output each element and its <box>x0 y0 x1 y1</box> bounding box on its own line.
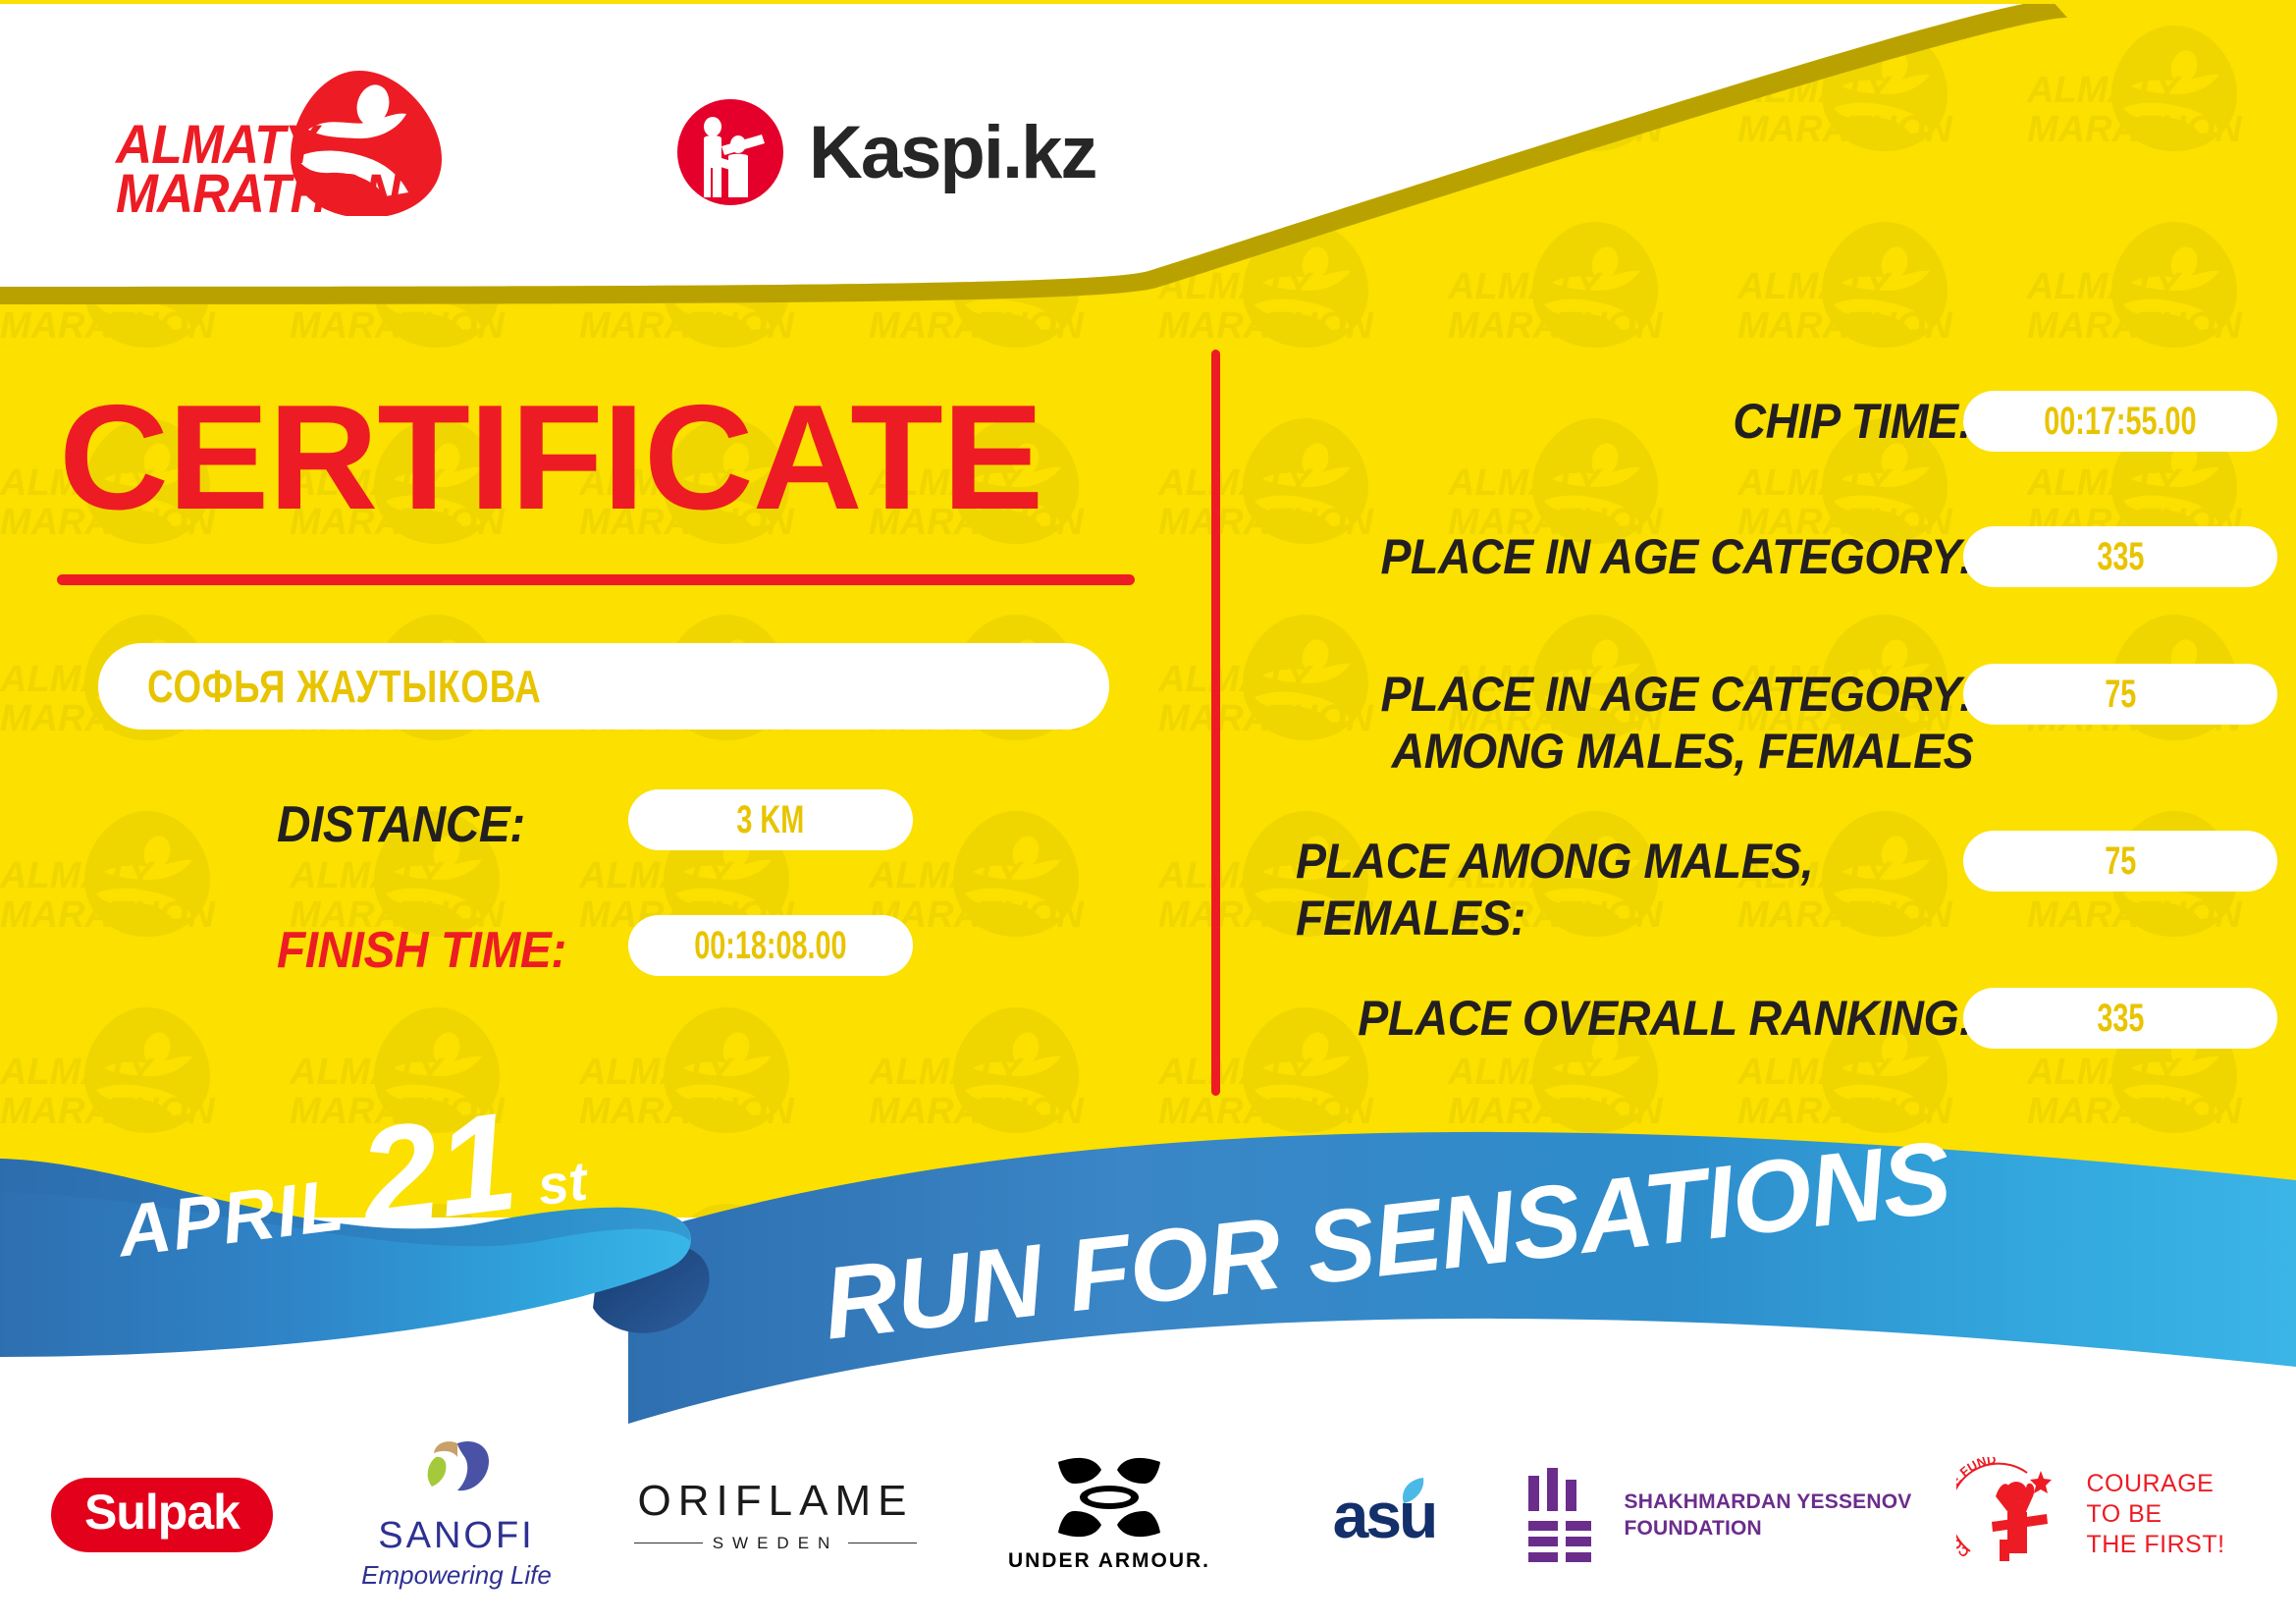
oriflame-rule-right <box>848 1543 917 1543</box>
kaspi-family-circle-icon <box>677 99 783 205</box>
place-among-gender-label: PLACE AMONG MALES, <box>1296 833 1813 890</box>
distance-field: 3 KM <box>628 789 913 850</box>
title-underline-rule <box>57 574 1135 585</box>
place-age-category-gender-label-line2: AMONG MALES, FEMALES <box>1391 723 1973 780</box>
distance-value: 3 KM <box>737 798 805 842</box>
place-overall-value: 335 <box>2097 997 2144 1041</box>
sanofi-bird-icon <box>414 1439 499 1510</box>
finish-time-label: FINISH TIME: <box>277 921 566 980</box>
place-among-gender-label-line2: FEMALES: <box>1296 890 1525 947</box>
place-age-category-gender-field: 75 <box>1963 664 2277 725</box>
vertical-divider <box>1211 350 1220 1096</box>
participant-name-field: СОФЬЯ ЖАУТЫКОВА <box>98 643 1109 730</box>
sponsor-under-armour: UNDER ARMOUR. <box>962 1436 1256 1594</box>
oriflame-tagline: SWEDEN <box>713 1534 839 1553</box>
asu-leaf-icon <box>1398 1476 1427 1509</box>
place-overall-field: 335 <box>1963 988 2277 1049</box>
chip-time-field: 00:17:55.00 <box>1963 391 2277 452</box>
sanofi-tagline: Empowering Life <box>361 1560 552 1591</box>
courage-runner-icon: CORPORATE FUND <box>1956 1457 2074 1573</box>
place-overall-label: PLACE OVERALL RANKING: <box>1358 990 1973 1047</box>
finish-time-field: 00:18:08.00 <box>628 915 913 976</box>
yessenov-tagline: FOUNDATION <box>1625 1515 1912 1542</box>
almaty-logo-line2: MARATHON <box>116 169 400 218</box>
place-age-category-field: 335 <box>1963 526 2277 587</box>
place-age-category-value: 335 <box>2097 535 2144 579</box>
sanofi-wordmark: SANOFI <box>361 1515 552 1557</box>
sponsor-oriflame: ORIFLAME SWEDEN <box>589 1436 962 1594</box>
place-among-gender-field: 75 <box>1963 831 2277 892</box>
courage-tagline: COURAGETO BETHE FIRST! <box>2086 1469 2224 1560</box>
kaspi-wordmark: Kaspi.kz <box>809 110 1095 195</box>
almaty-marathon-wordmark: ALMATY MARATHON <box>116 120 400 218</box>
sponsor-sanofi: SANOFI Empowering Life <box>324 1436 589 1594</box>
svg-text:CORPORATE FUND: CORPORATE FUND <box>1956 1457 1997 1560</box>
sulpak-wordmark: Sulpak <box>51 1478 273 1552</box>
sponsor-bar: Sulpak SANOFI Empowering Life ORIFLAME S… <box>0 1429 2296 1600</box>
chip-time-value: 00:17:55.00 <box>2044 400 2196 444</box>
certificate-title: CERTIFICATE <box>59 383 1042 532</box>
place-age-category-gender-label: PLACE IN AGE CATEGORY: <box>1380 666 1973 723</box>
participant-name-value: СОФЬЯ ЖАУТЫКОВА <box>147 660 542 713</box>
sponsor-sulpak: Sulpak <box>0 1436 324 1594</box>
distance-label: DISTANCE: <box>277 795 525 854</box>
place-age-category-label: PLACE IN AGE CATEGORY: <box>1380 528 1973 585</box>
finish-time-value: 00:18:08.00 <box>694 924 846 968</box>
yessenov-wordmark: SHAKHMARDAN YESSENOV <box>1625 1489 1912 1515</box>
place-among-gender-value: 75 <box>2105 839 2136 884</box>
chip-time-label: CHIP TIME: <box>1734 393 1973 450</box>
sponsor-asu: asu <box>1256 1436 1512 1594</box>
certificate-canvas: ALMATY MARATHON ALMATY MARATHON <box>0 0 2296 1624</box>
almaty-marathon-logo: ALMATY MARATHON <box>116 69 450 216</box>
under-armour-icon <box>1041 1456 1178 1541</box>
sponsor-shakhmardan-yessenov-foundation: SHAKHMARDAN YESSENOV FOUNDATION <box>1512 1436 1924 1594</box>
place-age-category-gender-value: 75 <box>2105 673 2136 717</box>
kaspi-logo: Kaspi.kz <box>677 93 1095 211</box>
ribbon-day-suffix: st <box>534 1149 590 1218</box>
under-armour-wordmark: UNDER ARMOUR. <box>1008 1549 1210 1573</box>
oriflame-wordmark: ORIFLAME <box>634 1477 918 1526</box>
yessenov-bars-icon <box>1524 1468 1605 1562</box>
ribbon-day: 21 <box>353 1099 522 1242</box>
oriflame-rule-left <box>634 1543 703 1543</box>
sponsor-courage-to-be-the-first: CORPORATE FUND COURAGETO BETHE FIRST! <box>1924 1436 2258 1594</box>
